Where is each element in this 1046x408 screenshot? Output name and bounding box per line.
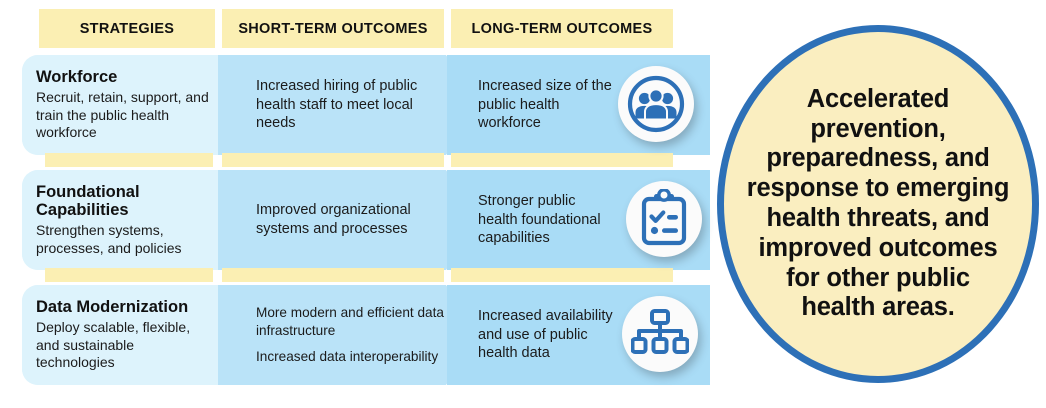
short-term-cell: Improved organizational systems and proc… <box>256 170 446 270</box>
infographic-canvas: STRATEGIES SHORT-TERM OUTCOMES LONG-TERM… <box>0 0 1046 408</box>
medallion-foundational-capabilities <box>626 181 702 257</box>
long-term-outcome: Increased size of the public health work… <box>478 77 614 133</box>
overall-outcome-circle: Accelerated prevention, preparedness, an… <box>717 25 1039 383</box>
column-header-short-term-outcomes: SHORT-TERM OUTCOMES <box>222 9 444 48</box>
overall-outcome-text: Accelerated prevention, preparedness, an… <box>724 85 1032 324</box>
flow-row-data-modernization: Data Modernization Deploy scalable, flex… <box>0 285 710 385</box>
row-divider <box>45 153 213 167</box>
short-term-outcome: Increased hiring of public health staff … <box>256 77 446 133</box>
medallion-data-modernization <box>622 296 698 372</box>
strategy-cell: Foundational Capabilities Strengthen sys… <box>36 170 216 270</box>
row-divider <box>222 153 444 167</box>
long-term-cell: Stronger public health foundational capa… <box>478 170 614 270</box>
strategy-description: Deploy scalable, flexible, and sustainab… <box>36 319 216 372</box>
strategy-title: Workforce <box>36 68 216 87</box>
strategy-description: Strengthen systems, processes, and polic… <box>36 222 216 257</box>
row-divider <box>222 268 444 282</box>
short-term-cell: More modern and efficient data infrastru… <box>256 285 446 385</box>
strategy-cell: Data Modernization Deploy scalable, flex… <box>36 285 216 385</box>
clipboard-check-icon <box>636 189 692 249</box>
strategy-title: Foundational Capabilities <box>36 183 216 220</box>
column-header-long-term-outcomes: LONG-TERM OUTCOMES <box>451 9 673 48</box>
row-divider <box>451 268 673 282</box>
long-term-outcome: Stronger public health foundational capa… <box>478 192 614 248</box>
hierarchy-icon <box>631 308 689 360</box>
flow-row-foundational-capabilities: Foundational Capabilities Strengthen sys… <box>0 170 710 270</box>
short-term-cell: Increased hiring of public health staff … <box>256 55 446 155</box>
short-term-outcome: Improved organizational systems and proc… <box>256 201 446 238</box>
strategy-description: Recruit, retain, support, and train the … <box>36 89 216 142</box>
short-term-outcome: More modern and efficient data infrastru… <box>256 304 446 339</box>
short-term-outcome-secondary: Increased data interoperability <box>256 348 446 366</box>
strategy-cell: Workforce Recruit, retain, support, and … <box>36 55 216 155</box>
long-term-cell: Increased availability and use of public… <box>478 285 614 385</box>
flow-row-workforce: Workforce Recruit, retain, support, and … <box>0 55 710 155</box>
row-divider <box>45 268 213 282</box>
people-icon <box>626 74 686 134</box>
long-term-cell: Increased size of the public health work… <box>478 55 614 155</box>
row-divider <box>451 153 673 167</box>
strategy-title: Data Modernization <box>36 298 216 317</box>
medallion-workforce <box>618 66 694 142</box>
column-header-strategies: STRATEGIES <box>39 9 215 48</box>
long-term-outcome: Increased availability and use of public… <box>478 307 614 363</box>
